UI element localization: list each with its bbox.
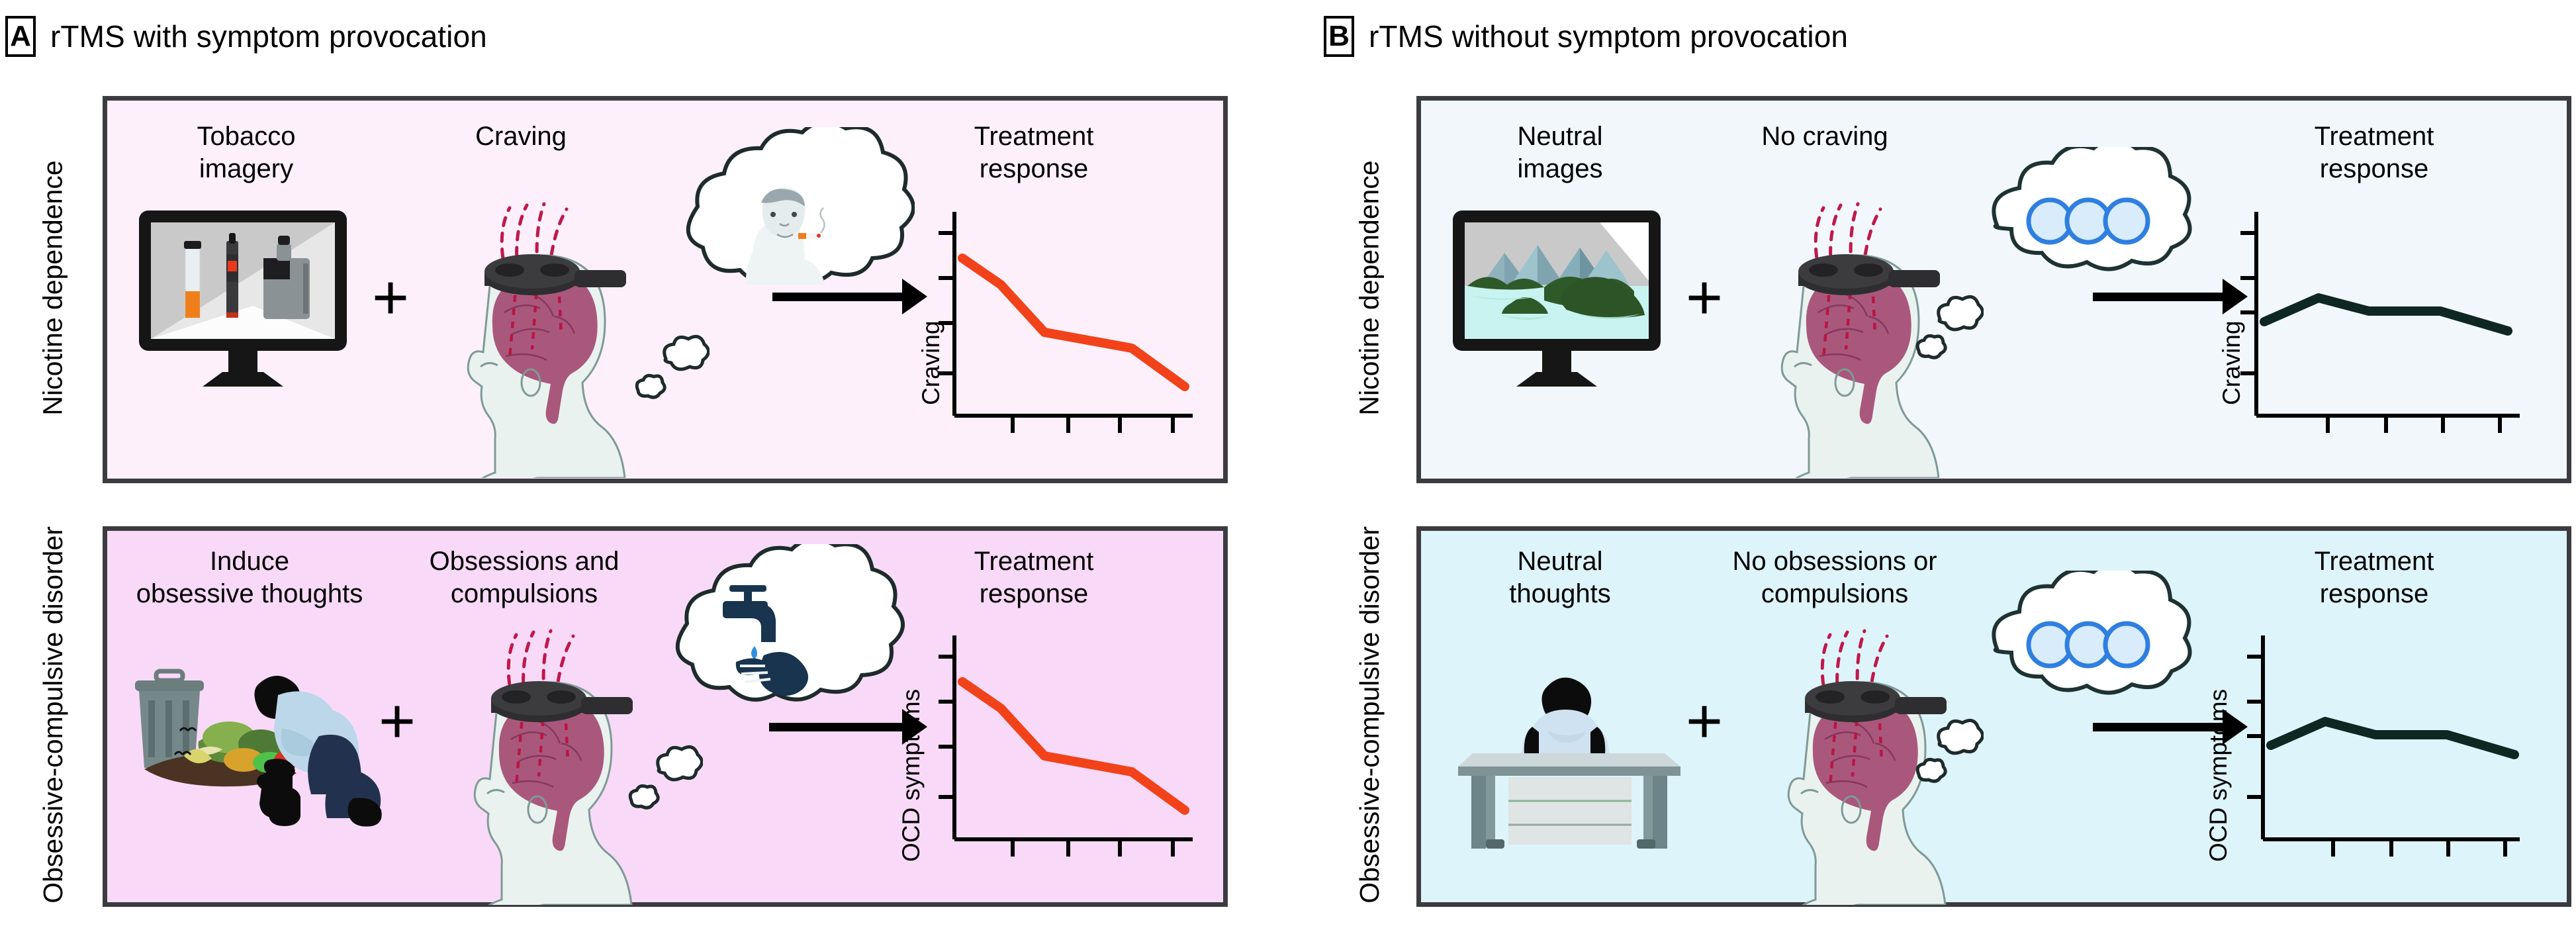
cell-title-a-ocd-state: Obsessions and compulsions [385, 545, 663, 610]
cell-title-b-ocd-state: No obsessions or compulsions [1686, 545, 1984, 610]
person-seated-at-desk-icon [1434, 657, 1699, 849]
cell-title-a-nicotine-state: Craving [379, 120, 663, 153]
chart-a-ocd-symptoms: OCD symptoms [895, 630, 1199, 882]
plus-sign-a-ocd: + [379, 690, 416, 753]
panel-a-letter: A [5, 16, 36, 57]
plus-sign-b-nicotine: + [1686, 266, 1723, 330]
chart-a-ocd-svg [895, 630, 1199, 882]
thought-bubble-three-blue-circles-icon [1951, 571, 2215, 743]
panel-a-title: rTMS with symptom provocation [50, 19, 487, 54]
chart-b-ocd-symptoms: OCD symptoms [2202, 630, 2526, 882]
chart-b-ocd-ylabel: OCD symptoms [2205, 689, 2232, 862]
chart-a-ocd-ylabel: OCD symptoms [897, 689, 925, 862]
arrow-right-a-ocd-icon [769, 723, 905, 731]
arrow-right-b-nicotine-icon [2093, 293, 2225, 301]
head-tms-coil-brain-icon [438, 620, 657, 905]
row-label-nicotine-b: Nicotine dependence [1314, 93, 1426, 483]
thought-trail-small-icon [630, 372, 667, 406]
card-a-nicotine: Tobacco imagery Craving Treatment respon… [103, 96, 1228, 483]
chart-a-nicotine-ylabel: Craving [917, 321, 945, 406]
cell-title-b-nicotine-stimulus: Neutral images [1448, 120, 1673, 185]
cell-title-b-ocd-outcome: Treatment response [2235, 545, 2513, 610]
row-label-nicotine-a-text: Nicotine dependence [38, 160, 69, 415]
card-a-ocd: Induce obsessive thoughts Obsessions and… [103, 526, 1228, 907]
row-label-ocd-b: Obsessive-compulsive disorder [1314, 523, 1426, 907]
plus-sign-b-ocd: + [1686, 690, 1723, 753]
row-label-nicotine-b-text: Nicotine dependence [1355, 160, 1385, 415]
panel-b-title: rTMS without symptom provocation [1369, 19, 1848, 54]
row-label-ocd-a: Obsessive-compulsive disorder [0, 523, 110, 907]
thought-trail-small-icon [623, 782, 661, 817]
cell-title-b-ocd-stimulus: Neutral thoughts [1448, 545, 1673, 610]
chart-a-nicotine-craving: Craving [915, 207, 1199, 458]
row-label-ocd-b-text: Obsessive-compulsive disorder [1355, 526, 1385, 904]
cell-title-a-nicotine-stimulus: Tobacco imagery [134, 120, 359, 185]
card-b-ocd: Neutral thoughts No obsessions or compul… [1416, 526, 2571, 907]
card-b-nicotine: Neutral images No craving Treatment resp… [1416, 96, 2571, 483]
row-label-nicotine-a: Nicotine dependence [0, 93, 110, 483]
chart-b-nicotine-ylabel: Craving [2218, 321, 2246, 406]
cell-title-b-nicotine-state: No craving [1686, 120, 1964, 153]
monitor-mountain-lake-landscape-icon [1448, 207, 1666, 392]
figure-root: A rTMS with symptom provocation B rTMS w… [0, 0, 2576, 932]
thought-trail-small-icon [1911, 332, 1948, 367]
panel-a-header: A rTMS with symptom provocation [5, 16, 487, 57]
thought-bubble-smoking-man-icon [637, 127, 915, 346]
head-tms-coil-brain-icon [432, 193, 650, 478]
plus-sign-a-nicotine: + [372, 266, 409, 330]
chart-b-nicotine-svg [2215, 207, 2526, 458]
thought-trail-small-icon [1911, 756, 1948, 790]
arrow-right-a-nicotine-icon [772, 293, 905, 301]
person-trash-bin-garbage-icon [120, 643, 385, 842]
monitor-tobacco-imagery-icon [134, 207, 352, 392]
cell-title-b-nicotine-outcome: Treatment response [2235, 120, 2513, 185]
row-label-ocd-a-text: Obsessive-compulsive disorder [38, 526, 69, 904]
chart-a-nicotine-svg [915, 207, 1199, 458]
panel-b-letter: B [1324, 16, 1354, 57]
chart-b-ocd-svg [2202, 630, 2526, 882]
chart-b-nicotine-craving: Craving [2215, 207, 2526, 458]
thought-bubble-faucet-handwashing-icon [630, 544, 908, 749]
cell-title-a-ocd-outcome: Treatment response [895, 545, 1173, 610]
panel-b-header: B rTMS without symptom provocation [1324, 16, 1848, 57]
cell-title-a-nicotine-outcome: Treatment response [895, 120, 1173, 185]
cell-title-a-ocd-stimulus: Induce obsessive thoughts [114, 545, 385, 610]
